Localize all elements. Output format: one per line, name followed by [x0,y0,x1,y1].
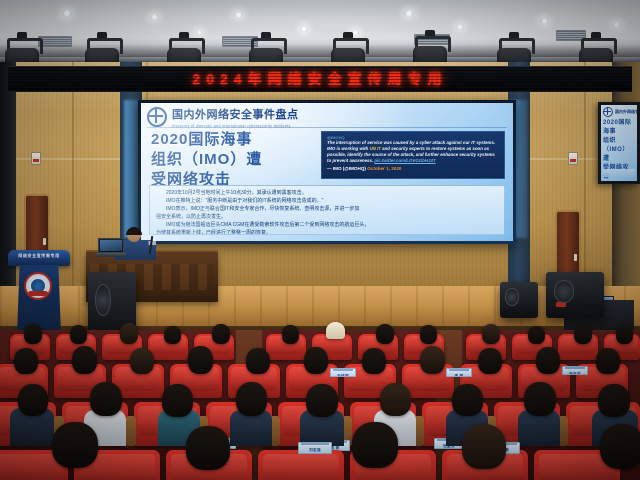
audience-head [574,324,592,344]
podium: 网络安全宣传周专用 [8,250,70,334]
slide-header: 国内外网络安全事件盘点 Inventory of domestic and in… [147,107,507,128]
audience-head [24,324,42,344]
slide-body-line: 2020年10月2号当地时间上午10点30分，其承认遭到黑客攻击。 [156,189,498,197]
seat-name-placard: 刘志强 [298,442,332,454]
audience-head [186,426,230,470]
police-emblem-icon [24,272,52,300]
audience-head [246,348,270,374]
audience-head [462,424,506,469]
presenter-laptop [96,238,126,258]
tweet-link: pic.twitter.com/LOVGGbHJ4T [374,158,435,163]
audience-head [528,326,545,344]
side-monitor-header: 国内外网络安全事件盘点 [615,109,637,115]
globe-icon [603,107,613,117]
audience-head [362,348,386,374]
audience-head [14,348,38,374]
audience-head [478,348,502,374]
audience-head [282,325,299,344]
audience-head [130,348,154,374]
recessed-downlight-icon [234,12,243,18]
audience-head [420,346,445,374]
recessed-downlight-icon [540,18,549,24]
audience-head [212,324,230,344]
audience-head [90,382,122,416]
recessed-downlight-icon [612,22,621,28]
slide-body-line: IMO表示，IMO正与联合国IT和安全专家合作，尽快恢复系统、查明攻击源，并进一… [156,205,498,213]
audience-head [598,384,630,417]
seat[interactable] [258,450,344,480]
audience-head [536,347,560,374]
slide-body-line: IMO在推特上说："服务中断是由于对我们的IT系统的网络攻击造成的。" [156,197,498,205]
tweet-attribution: — IMO (@IMOHQ) October 1, 2020 [327,165,499,172]
recessed-downlight-icon [62,10,72,17]
audience-head [52,422,98,468]
recessed-downlight-icon [300,26,308,32]
pa-speaker-icon [500,282,538,318]
slide-body-line: IMO成为继法国船运巨头CMA CGM在遭受勒索软件攻击后第二个受到网络攻击的航… [156,221,498,229]
pa-speaker-icon [546,272,604,318]
seat-name-placard: 张玉凤 [562,366,588,375]
audience-head [120,323,138,344]
audience-head [236,382,267,416]
side-monitor-body-strip [603,169,635,177]
recessed-downlight-icon [196,30,203,35]
tweet-date: October 1, 2020 [367,166,401,171]
placard-text: 张玉凤 [563,372,587,375]
audience-head [482,324,500,344]
slide-headline-line: 组织（IMO）遭 [151,150,301,170]
slide-body-line: 强安全系统，以防止再次发生。 [156,213,498,221]
podium-label: 网络安全宣传周专用 [8,253,70,259]
audience-head [452,384,483,416]
fire-alarm-icon [31,152,41,165]
tweet-highlight: UN IT [369,146,380,151]
placard-text: 刘志强 [299,448,331,452]
audience-head [70,325,87,344]
side-monitor: 国内外网络安全事件盘点 2020国际海事 组织（IMO）遭 受网络攻击 [598,102,640,184]
recessed-downlight-icon [352,30,359,35]
side-monitor-headline-line: 2020国际海事 [603,119,635,137]
seat-armrest [126,416,136,446]
audience-head [600,424,640,469]
audience-head [304,347,328,374]
slide-headline-line: 2020国际海事 [151,130,301,150]
audience-head [380,383,411,416]
audience-head [352,422,398,468]
auditorium-scene: 2024年网络安全宣传周专用 国内外网络安全事件盘点 Inventory of … [0,0,640,480]
placard-text: 李 莹 [447,374,471,377]
recessed-downlight-icon [456,24,464,30]
seat-name-placard: 王佳宇 [330,368,356,377]
audience-head [596,348,620,374]
audience-head-with-cap [326,322,345,339]
seat-name-placard: 李 莹 [446,368,472,377]
ceiling-vent-icon [38,36,72,47]
audience-head [524,382,556,416]
slide-body: 2020年10月2号当地时间上午10点30分，其承认遭到黑客攻击。 IMO在推特… [149,185,505,235]
audience-head [306,384,338,417]
side-monitor-headline-line: 组织（IMO）遭 [603,137,635,164]
slide-body-line: 为使其系统重新上线，已经进行了整整一周的恢复。 [156,229,498,235]
projection-screen: 国内外网络安全事件盘点 Inventory of domestic and in… [138,100,516,244]
slide-tweet-quote: @IMOHQ The interruption of service was c… [321,131,505,179]
audience-head [188,346,213,374]
fire-alarm-icon [568,152,578,165]
tweet-text: The interruption of service was caused b… [327,140,499,164]
recessed-downlight-icon [150,14,159,20]
recessed-downlight-icon [404,10,414,17]
audience-head [164,326,181,344]
slide-header-title: 国内外网络安全事件盘点 [172,109,299,121]
led-banner-text: 2024年网络安全宣传周专用 [8,69,632,89]
globe-icon [147,107,167,127]
audience-head [376,324,394,344]
audience-head [18,384,48,416]
led-banner: 2024年网络安全宣传周专用 [8,66,632,92]
slide-headline: 2020国际海事 组织（IMO）遭 受网络攻击 [151,130,301,190]
audience-head [162,384,193,417]
audience-head [72,346,97,374]
audience-head [420,325,437,344]
audience-head [616,325,633,344]
placard-text: 王佳宇 [331,374,355,377]
